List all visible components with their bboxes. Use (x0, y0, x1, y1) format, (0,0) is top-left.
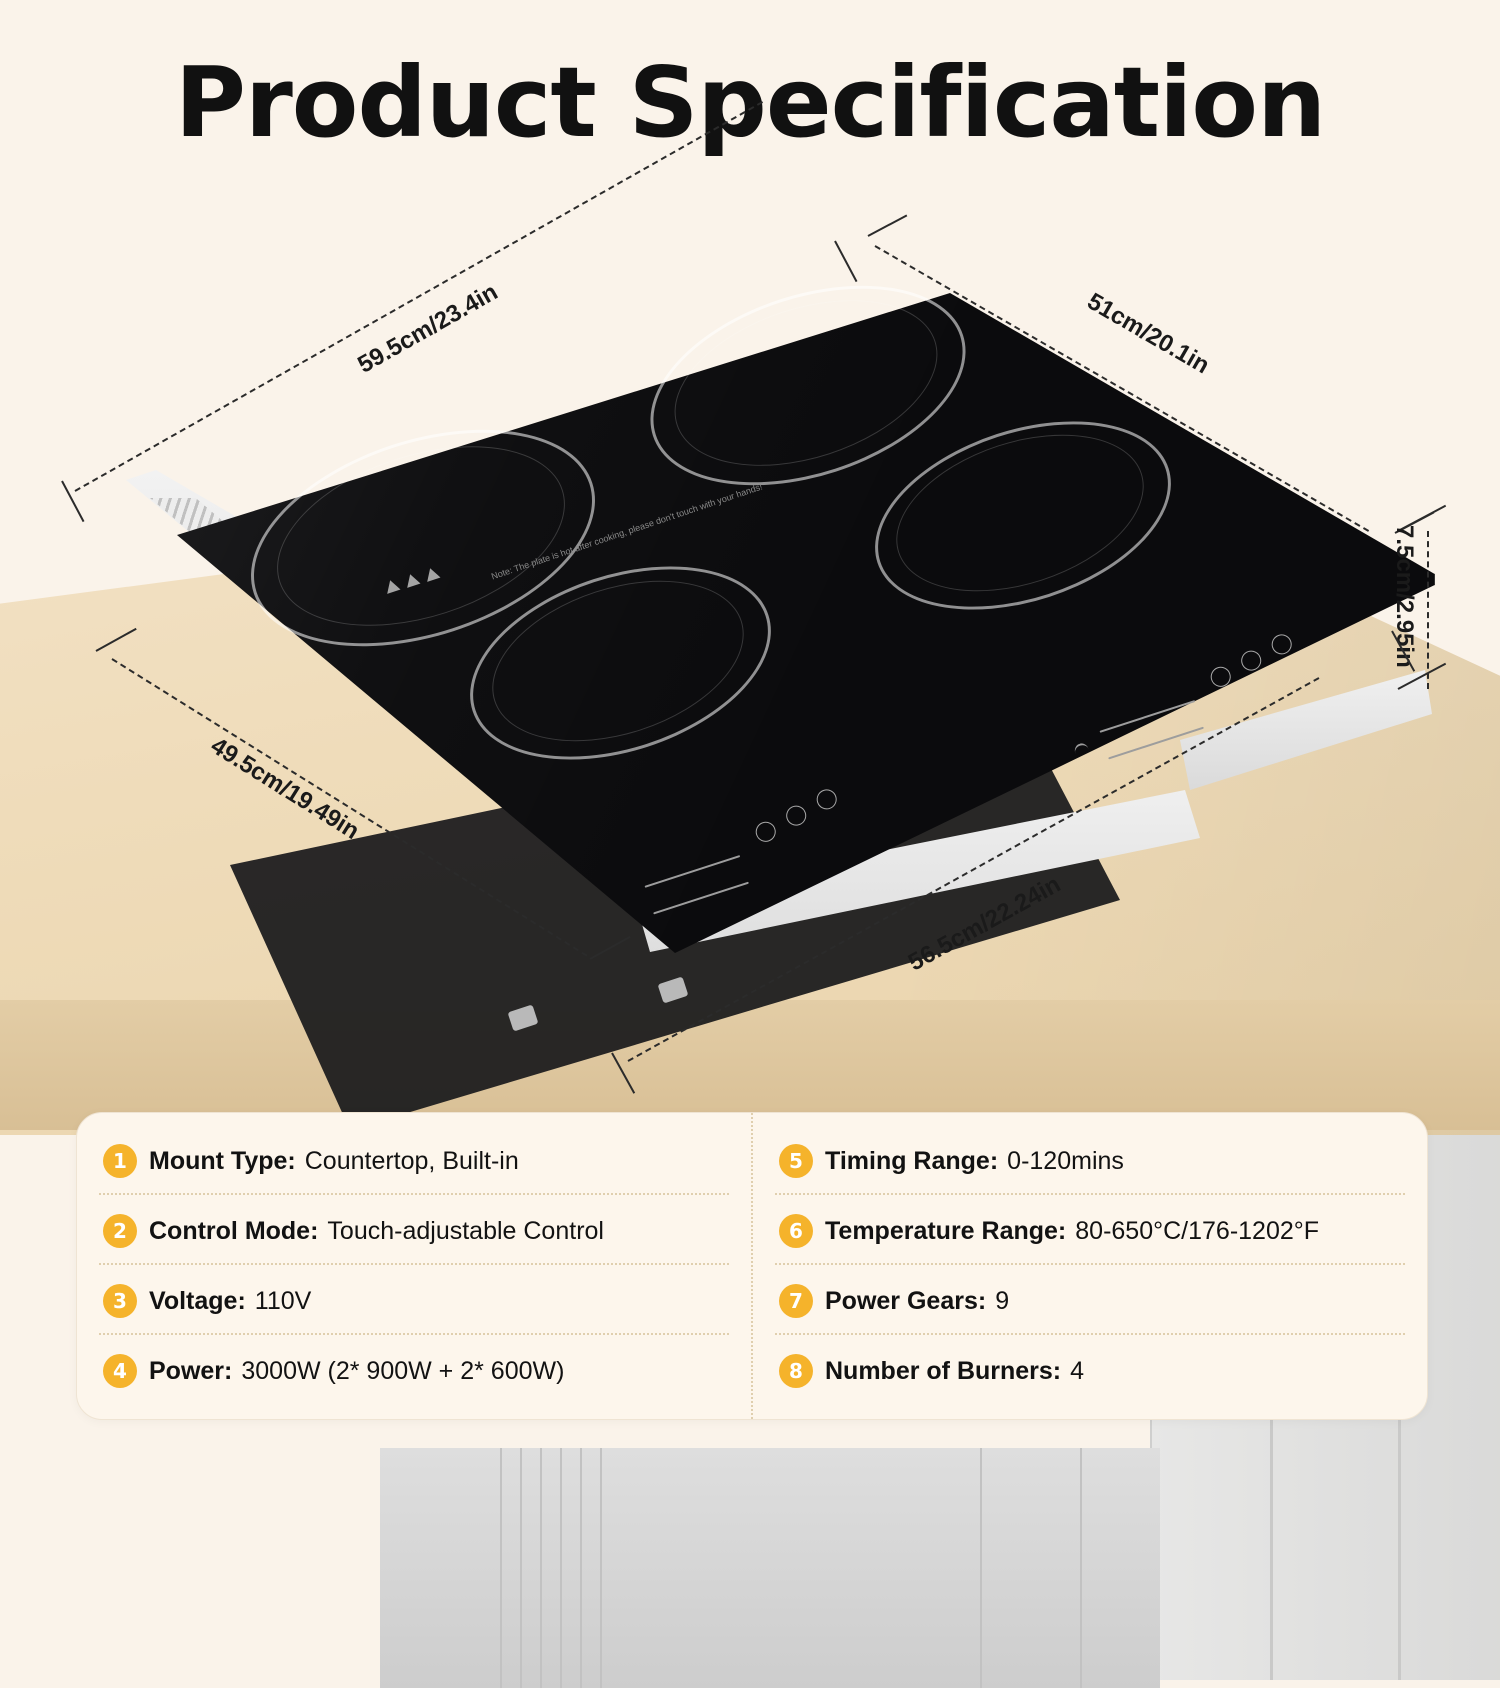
product-illustration: Note: The plate is hot after cooking, pl… (0, 180, 1500, 1140)
mounting-bracket (658, 976, 689, 1003)
spec-key: Number of Burners: (825, 1357, 1061, 1386)
cabinet-lower-panel (380, 1448, 1160, 1688)
spec-row: 3 Voltage: 110V (77, 1267, 751, 1335)
slider-track[interactable] (653, 882, 749, 915)
slider-track[interactable] (645, 855, 741, 888)
minus-button-icon[interactable] (1073, 742, 1091, 762)
page-title: Product Specification (0, 46, 1500, 159)
spec-row: 1 Mount Type: Countertop, Built-in (77, 1127, 751, 1195)
spec-number-badge: 4 (103, 1354, 137, 1388)
spec-value: Touch-adjustable Control (327, 1217, 604, 1246)
spec-number-badge: 1 (103, 1144, 137, 1178)
mounting-bracket (508, 1004, 539, 1031)
spec-value: 4 (1070, 1357, 1084, 1386)
spec-column-right: 5 Timing Range: 0-120mins 6 Temperature … (753, 1113, 1427, 1419)
spec-value: 0-120mins (1007, 1147, 1124, 1176)
timer-button-icon[interactable] (784, 803, 809, 828)
dimension-label-body-height: 7.5cm/2.95in (1390, 525, 1418, 668)
spec-number-badge: 7 (779, 1284, 813, 1318)
spec-key: Voltage: (149, 1287, 246, 1316)
spec-value: 80-650°C/176-1202°F (1075, 1217, 1319, 1246)
specification-card: 1 Mount Type: Countertop, Built-in 2 Con… (76, 1112, 1428, 1420)
spec-key: Timing Range: (825, 1147, 998, 1176)
spec-number-badge: 2 (103, 1214, 137, 1248)
spec-key: Mount Type: (149, 1147, 296, 1176)
spec-value: 3000W (2* 900W + 2* 600W) (241, 1357, 564, 1386)
spec-column-left: 1 Mount Type: Countertop, Built-in 2 Con… (77, 1113, 753, 1419)
spec-row: 8 Number of Burners: 4 (753, 1337, 1427, 1405)
slider-track[interactable] (1108, 727, 1204, 760)
spec-key: Temperature Range: (825, 1217, 1066, 1246)
spec-number-badge: 8 (779, 1354, 813, 1388)
power-button-icon[interactable] (814, 787, 839, 812)
power-button-icon[interactable] (1269, 632, 1294, 657)
spec-row: 6 Temperature Range: 80-650°C/176-1202°F (753, 1197, 1427, 1265)
product-spec-page: Product Specification (0, 0, 1500, 1500)
spec-value: 110V (255, 1287, 312, 1316)
timer-button-icon[interactable] (1239, 648, 1264, 673)
spec-value: 9 (995, 1287, 1009, 1316)
spec-row: 2 Control Mode: Touch-adjustable Control (77, 1197, 751, 1265)
induction-cooktop: Note: The plate is hot after cooking, pl… (60, 180, 1460, 1080)
spec-number-badge: 6 (779, 1214, 813, 1248)
slider-track[interactable] (1100, 700, 1196, 733)
lock-button-icon[interactable] (753, 819, 778, 844)
spec-row: 5 Timing Range: 0-120mins (753, 1127, 1427, 1195)
spec-key: Control Mode: (149, 1217, 318, 1246)
spec-number-badge: 3 (103, 1284, 137, 1318)
spec-number-badge: 5 (779, 1144, 813, 1178)
spec-key: Power: (149, 1357, 232, 1386)
spec-value: Countertop, Built-in (305, 1147, 519, 1176)
spec-key: Power Gears: (825, 1287, 986, 1316)
lock-button-icon[interactable] (1208, 664, 1233, 689)
spec-row: 7 Power Gears: 9 (753, 1267, 1427, 1335)
spec-row: 4 Power: 3000W (2* 900W + 2* 600W) (77, 1337, 751, 1405)
